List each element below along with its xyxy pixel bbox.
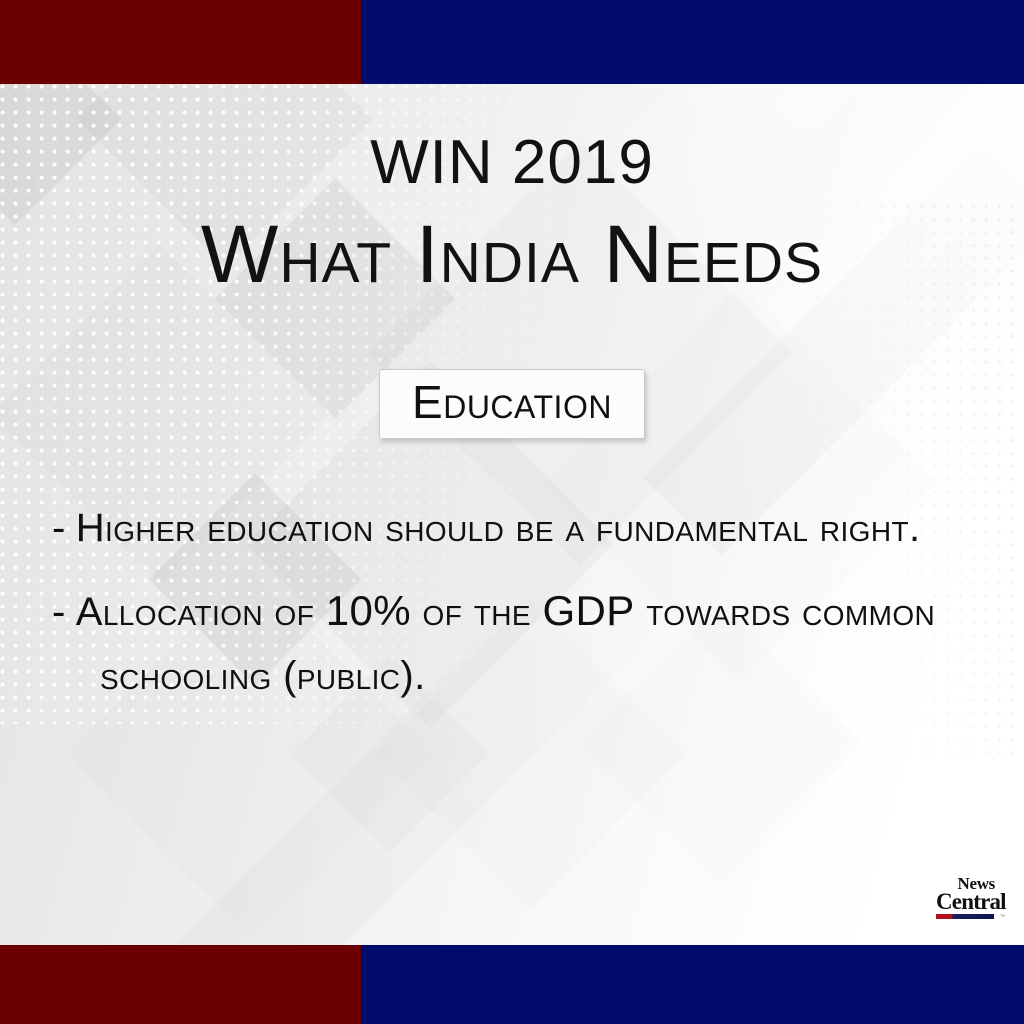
list-item: -Allocation of 10% of the GDP towards co… [52,590,982,696]
bottom-band-navy-segment [361,945,1024,1024]
top-band-maroon-segment [0,0,361,84]
bullet-2-stat-value: 10% [326,587,411,634]
top-band-navy-segment [361,0,1024,84]
bullet-dash: - [52,506,66,550]
logo-trademark: ™ [1000,914,1005,920]
bullet-2-tail: towards common [646,590,935,634]
bottom-color-band [0,945,1024,1024]
bottom-band-maroon-segment [0,945,361,1024]
bullet-2-mid: of the [423,590,531,634]
page-title: What India Needs [0,214,1024,296]
bullet-2-lead: Allocation of [76,590,315,634]
bullet-1-text: Higher education should be a fundamental… [76,506,921,550]
bullet-2-continuation: schooling (public). [100,656,982,696]
topic-chip-education: Education [379,369,645,439]
topic-chip-container: Education [0,369,1024,439]
logo-accent-bar [936,914,994,919]
logo-text-central: Central [936,891,998,912]
poster-content: WIN 2019 What India Needs Education -Hig… [0,84,1024,945]
bullet-dash: - [52,590,66,634]
list-item: -Higher education should be a fundamenta… [52,508,982,548]
bullet-2-acronym-gdp: GDP [542,587,634,634]
campaign-kicker: WIN 2019 [0,132,1024,194]
top-color-band [0,0,1024,84]
poster-canvas: WIN 2019 What India Needs Education -Hig… [0,0,1024,1024]
bullet-list: -Higher education should be a fundamenta… [52,508,982,738]
logo-inner: News Central ™ [936,876,998,919]
news-central-logo: News Central ™ [924,861,1010,933]
